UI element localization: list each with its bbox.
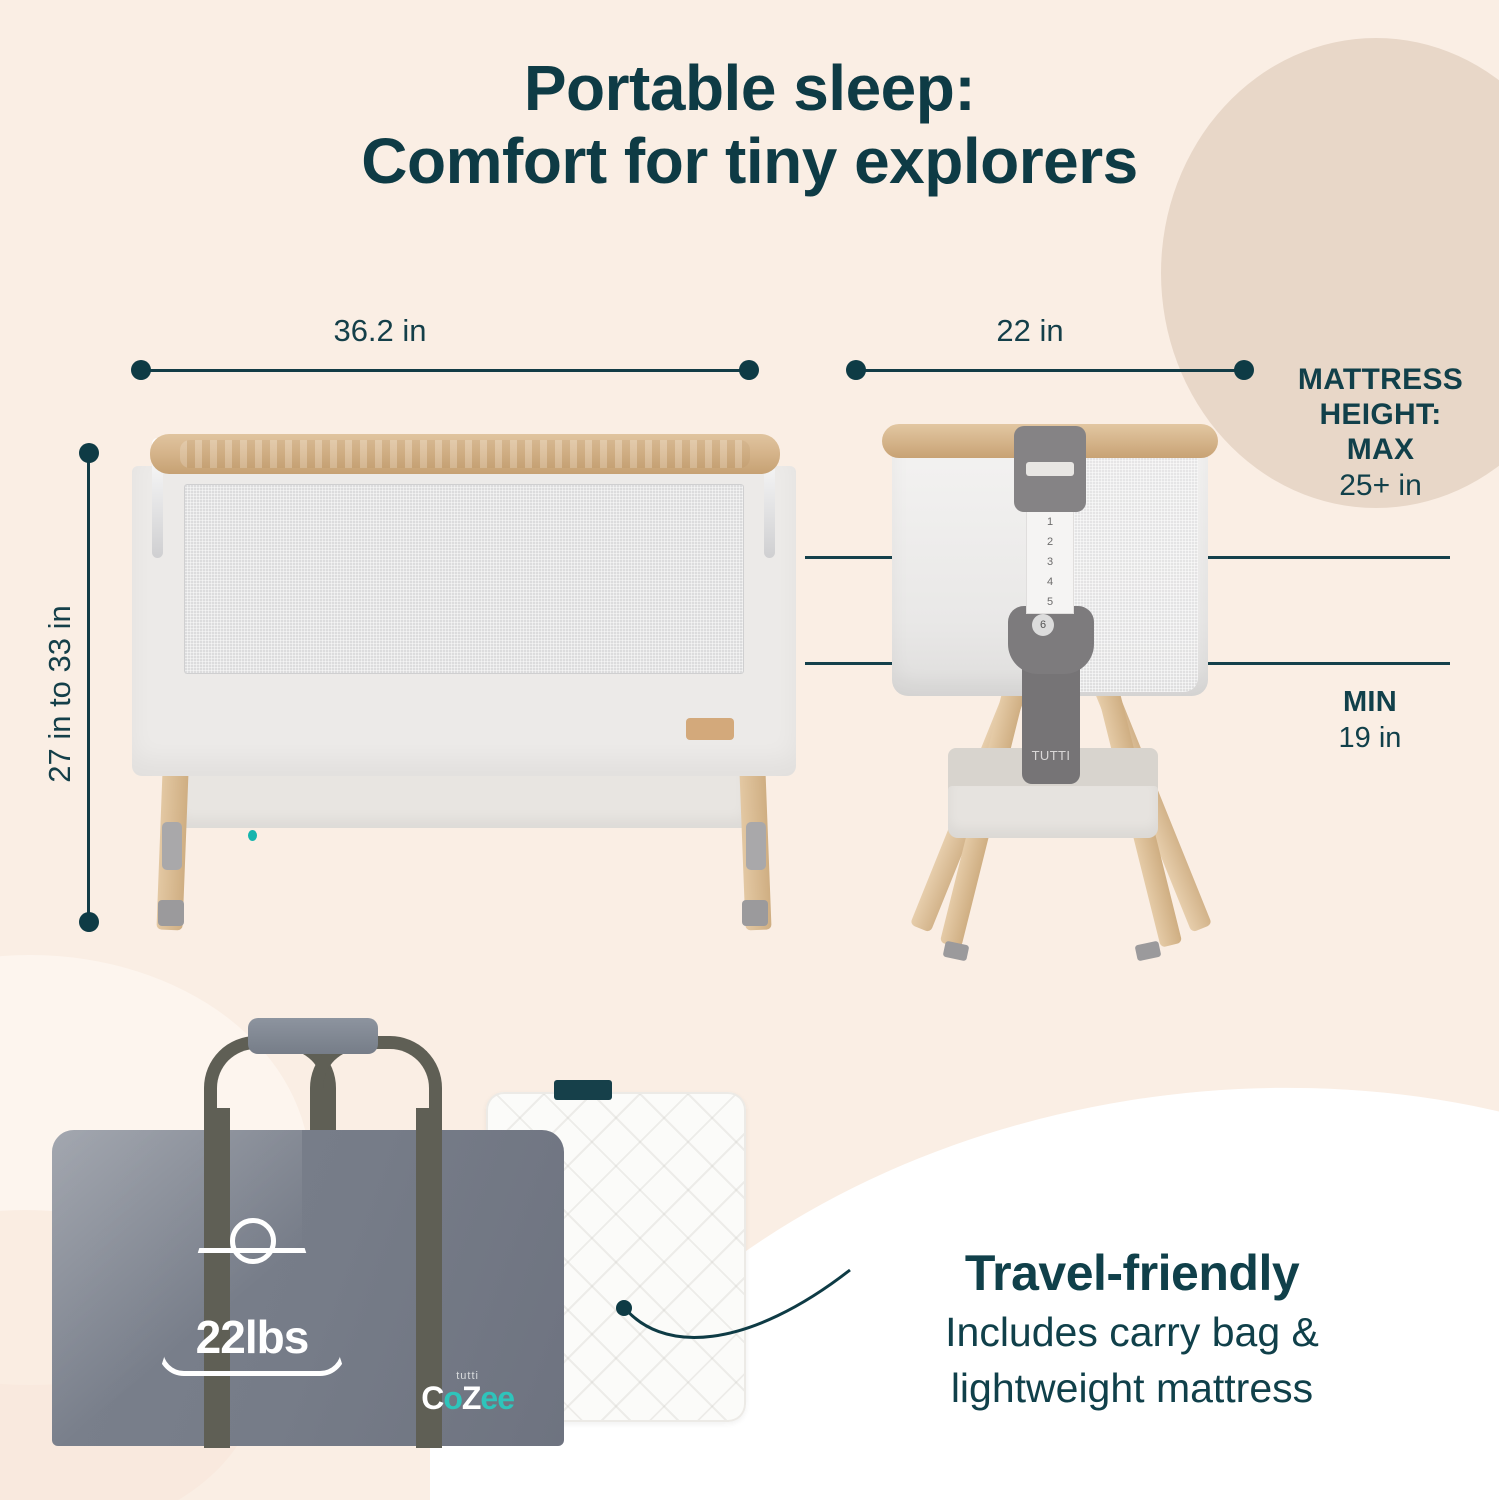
logo-char-c: C bbox=[421, 1380, 443, 1416]
side-adjust-hub bbox=[1008, 606, 1094, 674]
teal-accent-dot bbox=[248, 830, 257, 841]
front-width-line bbox=[140, 369, 750, 372]
height-adjust-column: 1 2 3 4 5 bbox=[1026, 510, 1074, 614]
front-height-dot-bottom bbox=[79, 912, 99, 932]
callout-subtitle-line-2: lightweight mattress bbox=[852, 1365, 1412, 1413]
front-width-dot-left bbox=[131, 360, 151, 380]
side-center-stem bbox=[1022, 656, 1080, 784]
height-setting-badge: 6 bbox=[1032, 614, 1054, 636]
callout-subtitle-line-1: Includes carry bag & bbox=[852, 1309, 1412, 1357]
height-number-4: 4 bbox=[1026, 576, 1074, 588]
height-number-2: 2 bbox=[1026, 536, 1074, 548]
infographic-canvas: Portable sleep: Comfort for tiny explore… bbox=[0, 0, 1499, 1500]
mattress-height-min-block: MIN 19 in bbox=[1280, 686, 1460, 755]
weight-value: 22lbs bbox=[158, 1310, 346, 1364]
travel-friendly-callout: Travel-friendly Includes carry bag & lig… bbox=[852, 1246, 1412, 1413]
mattress-height-min-label: MIN bbox=[1280, 686, 1460, 720]
headline-line-2: Comfort for tiny explorers bbox=[0, 125, 1499, 198]
front-mesh-panel bbox=[184, 484, 744, 674]
front-clip-left bbox=[162, 822, 182, 870]
mattress-height-max-label: MAX bbox=[1278, 433, 1483, 468]
weight-icon: 22lbs bbox=[158, 1218, 346, 1378]
side-basket-outer bbox=[948, 786, 1158, 838]
front-height-label: 27 in to 33 in bbox=[42, 484, 78, 904]
logo-main-text: CoZee bbox=[421, 1382, 514, 1414]
logo-char-z: Z bbox=[462, 1380, 481, 1416]
cozee-logo: tutti CoZee bbox=[421, 1370, 514, 1414]
front-height-dot-top bbox=[79, 443, 99, 463]
mattress-height-title-2: HEIGHT: bbox=[1278, 398, 1483, 433]
front-foot-left bbox=[158, 900, 184, 926]
page-title: Portable sleep: Comfort for tiny explore… bbox=[0, 52, 1499, 198]
front-foot-right bbox=[742, 900, 768, 926]
logo-char-o: o bbox=[443, 1380, 462, 1416]
leather-brand-tag bbox=[686, 718, 734, 740]
side-width-line bbox=[855, 369, 1245, 372]
bassinet-side-view: TUTTI 6 1 2 3 4 5 bbox=[860, 418, 1240, 958]
leader-line-dot bbox=[616, 1300, 632, 1316]
bag-handle-grip bbox=[248, 1018, 378, 1054]
mattress-height-max-value: 25+ in bbox=[1278, 469, 1483, 504]
side-clamp-slot bbox=[1026, 462, 1074, 476]
side-width-dot-right bbox=[1234, 360, 1254, 380]
front-fabric-body bbox=[132, 466, 796, 776]
side-foot-right bbox=[1135, 941, 1162, 962]
mattress-height-min-value: 19 in bbox=[1280, 722, 1460, 756]
front-clip-right bbox=[746, 822, 766, 870]
headline-line-1: Portable sleep: bbox=[524, 52, 975, 124]
height-number-5: 5 bbox=[1026, 596, 1074, 608]
front-width-dot-right bbox=[739, 360, 759, 380]
height-number-1: 1 bbox=[1026, 516, 1074, 528]
mattress-height-max-block: MATTRESS HEIGHT: MAX 25+ in bbox=[1278, 363, 1483, 504]
side-width-dot-left bbox=[846, 360, 866, 380]
mattress-height-title-1: MATTRESS bbox=[1278, 363, 1483, 398]
front-height-line bbox=[87, 452, 90, 922]
side-foot-left bbox=[943, 941, 970, 962]
front-wooden-rail bbox=[150, 434, 780, 474]
carry-bag: 22lbs tutti CoZee bbox=[44, 1088, 574, 1448]
front-width-label: 36.2 in bbox=[0, 313, 760, 349]
callout-title: Travel-friendly bbox=[852, 1246, 1412, 1301]
height-number-3: 3 bbox=[1026, 556, 1074, 568]
bassinet-front-view bbox=[128, 430, 800, 930]
logo-char-ee: ee bbox=[480, 1380, 514, 1416]
side-width-label: 22 in bbox=[805, 313, 1255, 349]
side-brand-text: TUTTI bbox=[1022, 748, 1080, 763]
